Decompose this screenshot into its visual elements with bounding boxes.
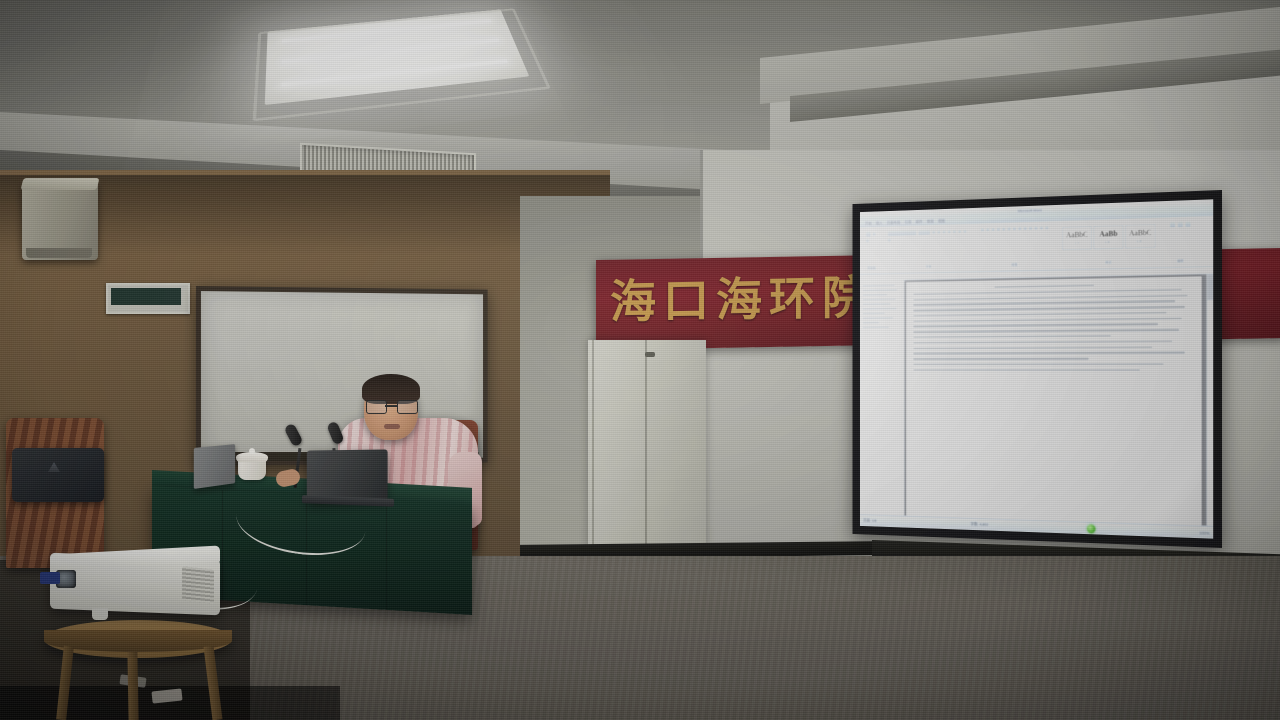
navigation-pane[interactable] [860,280,905,515]
green-shield-icon[interactable] [1087,524,1095,533]
stool-leg [127,652,138,720]
style-label: 正文 [1074,241,1080,245]
justify-icon[interactable] [1029,226,1033,230]
italic-icon[interactable] [937,230,940,234]
borders-icon[interactable] [1045,225,1049,229]
line-spacing-icon[interactable] [1034,226,1038,230]
sort-icon[interactable] [1007,227,1011,231]
wall-speaker-base [26,248,92,258]
ribbon-group-label: 字体 [888,263,971,270]
style-heading-2[interactable]: AaBbC 标题 2 [1125,224,1155,248]
ribbon-group-font[interactable]: 字体 [884,226,974,272]
presenter-mouth [384,424,400,429]
second-laptop[interactable] [194,444,235,489]
superscript-icon[interactable] [958,229,961,233]
style-heading-1[interactable]: AaBb 标题 1 [1094,225,1124,249]
projection-screen-surface: Microsoft Word 开始 插入 页面布局 引用 邮件 审阅 视图 [860,199,1213,538]
wall-speaker-top [21,178,100,190]
font-color-icon[interactable] [888,238,891,242]
wall-plaque-screen [111,288,181,305]
ribbon-group-editing[interactable]: 编辑 [1166,219,1195,265]
subscript-icon[interactable] [953,229,956,233]
multilevel-list-icon[interactable] [991,227,995,231]
tab-references[interactable]: 引用 [905,220,912,226]
select-icon[interactable] [1185,221,1191,227]
find-icon[interactable] [1170,221,1176,227]
strikethrough-icon[interactable] [948,230,951,234]
underline-icon[interactable] [942,230,945,234]
word-document-area[interactable] [860,274,1213,526]
numbered-list-icon[interactable] [986,227,990,231]
tab-review[interactable]: 审阅 [927,219,934,225]
style-label: 标题 1 [1104,240,1112,244]
font-name-box[interactable] [888,230,917,236]
replace-icon[interactable] [1177,221,1183,227]
door-edge-left [592,340,594,548]
projector-vent [182,566,214,603]
style-label: 标题 2 [1136,239,1144,243]
vertical-scrollbar[interactable] [1206,274,1213,526]
bold-icon[interactable] [932,230,935,234]
bullet-list-icon[interactable] [981,228,985,232]
decrease-indent-icon[interactable] [997,227,1001,231]
ribbon-group-label: 段落 [981,261,1049,267]
ribbon-group-label: 剪贴板 [866,265,878,270]
tab-layout[interactable]: 页面布局 [887,220,901,226]
increase-indent-icon[interactable] [1002,227,1006,231]
tab-home[interactable]: 开始 [865,221,872,227]
tab-insert[interactable]: 插入 [876,221,883,227]
double-door[interactable] [588,340,706,548]
status-page: 页面: 1/8 [863,518,876,524]
word-ribbon[interactable]: 剪贴板 [860,216,1213,275]
status-zoom-level[interactable]: 100% [1199,530,1209,535]
projector-foot [92,608,108,620]
ribbon-group-clipboard[interactable]: 剪贴板 [862,229,881,272]
projection-screen: Microsoft Word 开始 插入 页面布局 引用 邮件 审阅 视图 [852,190,1222,548]
ribbon-group-styles[interactable]: AaBbC 正文 AaBb 标题 1 AaBbC 标题 2 [1056,220,1163,268]
font-size-box[interactable] [918,229,930,235]
ribbon-group-paragraph[interactable]: 段落 [977,223,1053,269]
tab-mailings[interactable]: 邮件 [916,219,923,225]
ribbon-group-label: 编辑 [1170,258,1191,263]
teacup-knob [249,448,255,454]
word-application: Microsoft Word 开始 插入 页面布局 引用 邮件 审阅 视图 [860,199,1213,538]
style-sample: AaBb [1099,230,1117,238]
document-page[interactable] [906,276,1201,525]
door-handle[interactable] [645,352,655,357]
meeting-room-photo: 海口海环院环境 Microsoft Word 开始 插入 页面布局 引用 邮件 … [0,0,1280,720]
ribbon-group-label: 样式 [1060,259,1159,266]
paste-icon[interactable] [866,231,871,237]
copy-icon[interactable] [866,239,869,243]
word-title: Microsoft Word [1018,207,1042,213]
scrollbar-thumb[interactable] [1207,274,1213,300]
style-normal[interactable]: AaBbC 正文 [1062,226,1091,250]
cut-icon[interactable] [872,232,875,236]
shading-icon[interactable] [1040,226,1044,230]
align-right-icon[interactable] [1023,226,1027,230]
laptop-bag [12,448,104,502]
align-center-icon[interactable] [1018,226,1022,230]
tab-view[interactable]: 视图 [938,218,945,224]
text-highlight-icon[interactable] [963,229,966,233]
style-sample: AaBbC [1066,231,1088,239]
style-sample: AaBbC [1129,229,1152,238]
projector-cable-plug [40,572,60,584]
presenter-glasses [366,400,416,412]
door-center-split [645,340,647,548]
status-word-count: 字数: 4,802 [971,521,989,527]
align-left-icon[interactable] [1013,227,1017,231]
